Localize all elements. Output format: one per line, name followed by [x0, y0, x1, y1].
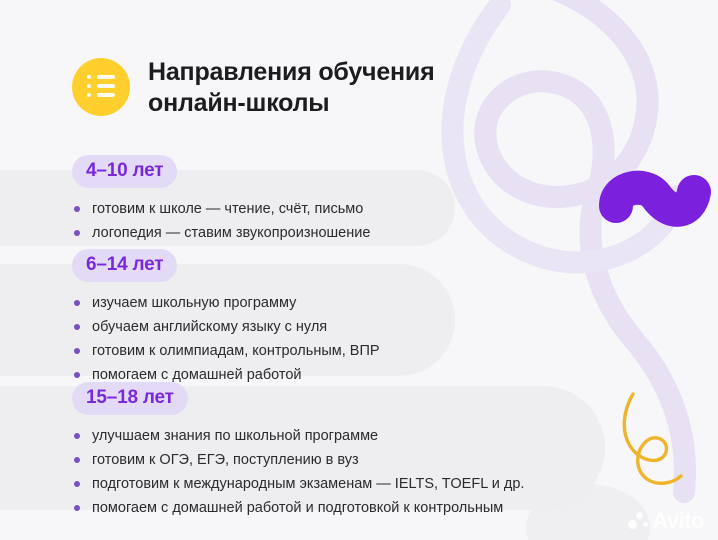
avito-dots-logo — [628, 511, 648, 531]
feature-list: изучаем школьную программу обучаем англи… — [72, 291, 380, 387]
age-group-6-14: 6–14 лет изучаем школьную программу обуч… — [72, 249, 380, 387]
age-badge: 6–14 лет — [72, 249, 177, 282]
list-item-label: логопедия — ставим звукопроизношение — [92, 225, 370, 241]
feature-list: готовим к школе — чтение, счёт, письмо л… — [72, 197, 370, 245]
list-item: готовим к олимпиадам, контрольным, ВПР — [72, 339, 380, 363]
bullet-dot-icon — [74, 324, 80, 330]
avito-watermark: Avito — [628, 510, 704, 532]
age-badge: 15–18 лет — [72, 382, 188, 415]
list-item-label: обучаем английскому языку с нуля — [92, 319, 327, 335]
bullet-dot-icon — [74, 206, 80, 212]
list-item: помогаем с домашней работой и подготовко… — [72, 496, 524, 520]
bullet-dot-icon — [74, 300, 80, 306]
list-item: готовим к школе — чтение, счёт, письмо — [72, 197, 370, 221]
bullet-dot-icon — [74, 433, 80, 439]
avito-wordmark: Avito — [652, 510, 704, 532]
list-item-label: готовим к ОГЭ, ЕГЭ, поступлению в вуз — [92, 452, 359, 468]
bullet-dot-icon — [74, 372, 80, 378]
list-item-label: готовим к школе — чтение, счёт, письмо — [92, 201, 363, 217]
age-group-4-10: 4–10 лет готовим к школе — чтение, счёт,… — [72, 155, 370, 245]
list-item-label: подготовим к международным экзаменам — I… — [92, 476, 524, 492]
list-item: обучаем английскому языку с нуля — [72, 315, 380, 339]
page-title: Направления обучения онлайн-школы — [148, 55, 435, 118]
list-item: логопедия — ставим звукопроизношение — [72, 221, 370, 245]
page-content: Направления обучения онлайн-школы 4–10 л… — [0, 0, 718, 540]
feature-list: улучшаем знания по школьной программе го… — [72, 424, 524, 520]
age-group-15-18: 15–18 лет улучшаем знания по школьной пр… — [72, 382, 524, 520]
bullet-dot-icon — [74, 230, 80, 236]
header: Направления обучения онлайн-школы — [72, 55, 435, 118]
list-item-label: готовим к олимпиадам, контрольным, ВПР — [92, 343, 380, 359]
bullet-dot-icon — [74, 348, 80, 354]
list-item: готовим к ОГЭ, ЕГЭ, поступлению в вуз — [72, 448, 524, 472]
list-item-label: помогаем с домашней работой — [92, 367, 302, 383]
age-badge: 4–10 лет — [72, 155, 177, 188]
list-item-label: улучшаем знания по школьной программе — [92, 428, 378, 444]
list-item-label: изучаем школьную программу — [92, 295, 296, 311]
bulleted-list-icon — [72, 58, 130, 116]
list-item: улучшаем знания по школьной программе — [72, 424, 524, 448]
bullet-dot-icon — [74, 481, 80, 487]
bullet-dot-icon — [74, 505, 80, 511]
bullet-dot-icon — [74, 457, 80, 463]
list-item: подготовим к международным экзаменам — I… — [72, 472, 524, 496]
list-item-label: помогаем с домашней работой и подготовко… — [92, 500, 503, 516]
list-item: изучаем школьную программу — [72, 291, 380, 315]
